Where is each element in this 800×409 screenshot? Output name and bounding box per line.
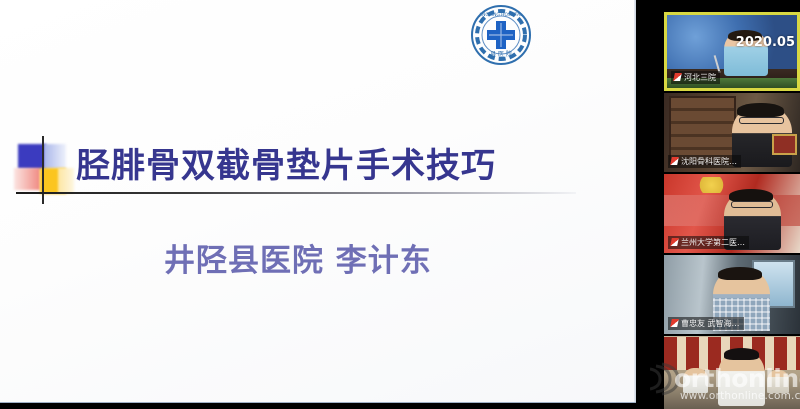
video-label-2: 沈阳骨科医院… — [668, 155, 741, 168]
video-label-4: 曹忠友 武智海… — [668, 317, 744, 330]
video-conference-screen: JINGXING HOSPITAL 县 医 院 胫腓骨双截骨垫片手术技巧 井陉县… — [0, 0, 800, 409]
slide-subtitle: 井陉县医院 李计东 — [164, 235, 432, 280]
video-label-3: 兰州大学第二医… — [668, 236, 749, 249]
shared-presentation-slide: JINGXING HOSPITAL 县 医 院 胫腓骨双截骨垫片手术技巧 井陉县… — [0, 0, 636, 403]
slide-bottom-rule — [0, 402, 636, 403]
video-tile-4[interactable]: 曹忠友 武智海… — [664, 255, 800, 334]
video-tile-2[interactable]: 沈阳骨科医院… — [664, 93, 800, 172]
slide-title: 胫腓骨双截骨垫片手术技巧 — [76, 138, 616, 187]
slide-right-edge — [634, 0, 636, 403]
hospital-emblem-icon: JINGXING HOSPITAL 县 医 院 — [470, 4, 532, 66]
video-date-overlay-1: 2020.05 — [736, 35, 795, 50]
video-feed-5 — [664, 336, 800, 409]
video-tile-5[interactable] — [664, 336, 800, 409]
video-tile-1[interactable]: 2020.05 河北三院 — [664, 12, 800, 91]
svg-text:JINGXING HOSPITAL: JINGXING HOSPITAL — [479, 12, 523, 18]
video-label-1: 河北三院 — [671, 71, 720, 84]
svg-text:县 医 院: 县 医 院 — [490, 50, 512, 58]
participant-video-rail: 2020.05 河北三院 沈阳骨科医院… 兰州大学第二医… — [664, 0, 800, 409]
title-divider-rule — [16, 192, 576, 194]
video-tile-3[interactable]: 兰州大学第二医… — [664, 174, 800, 253]
